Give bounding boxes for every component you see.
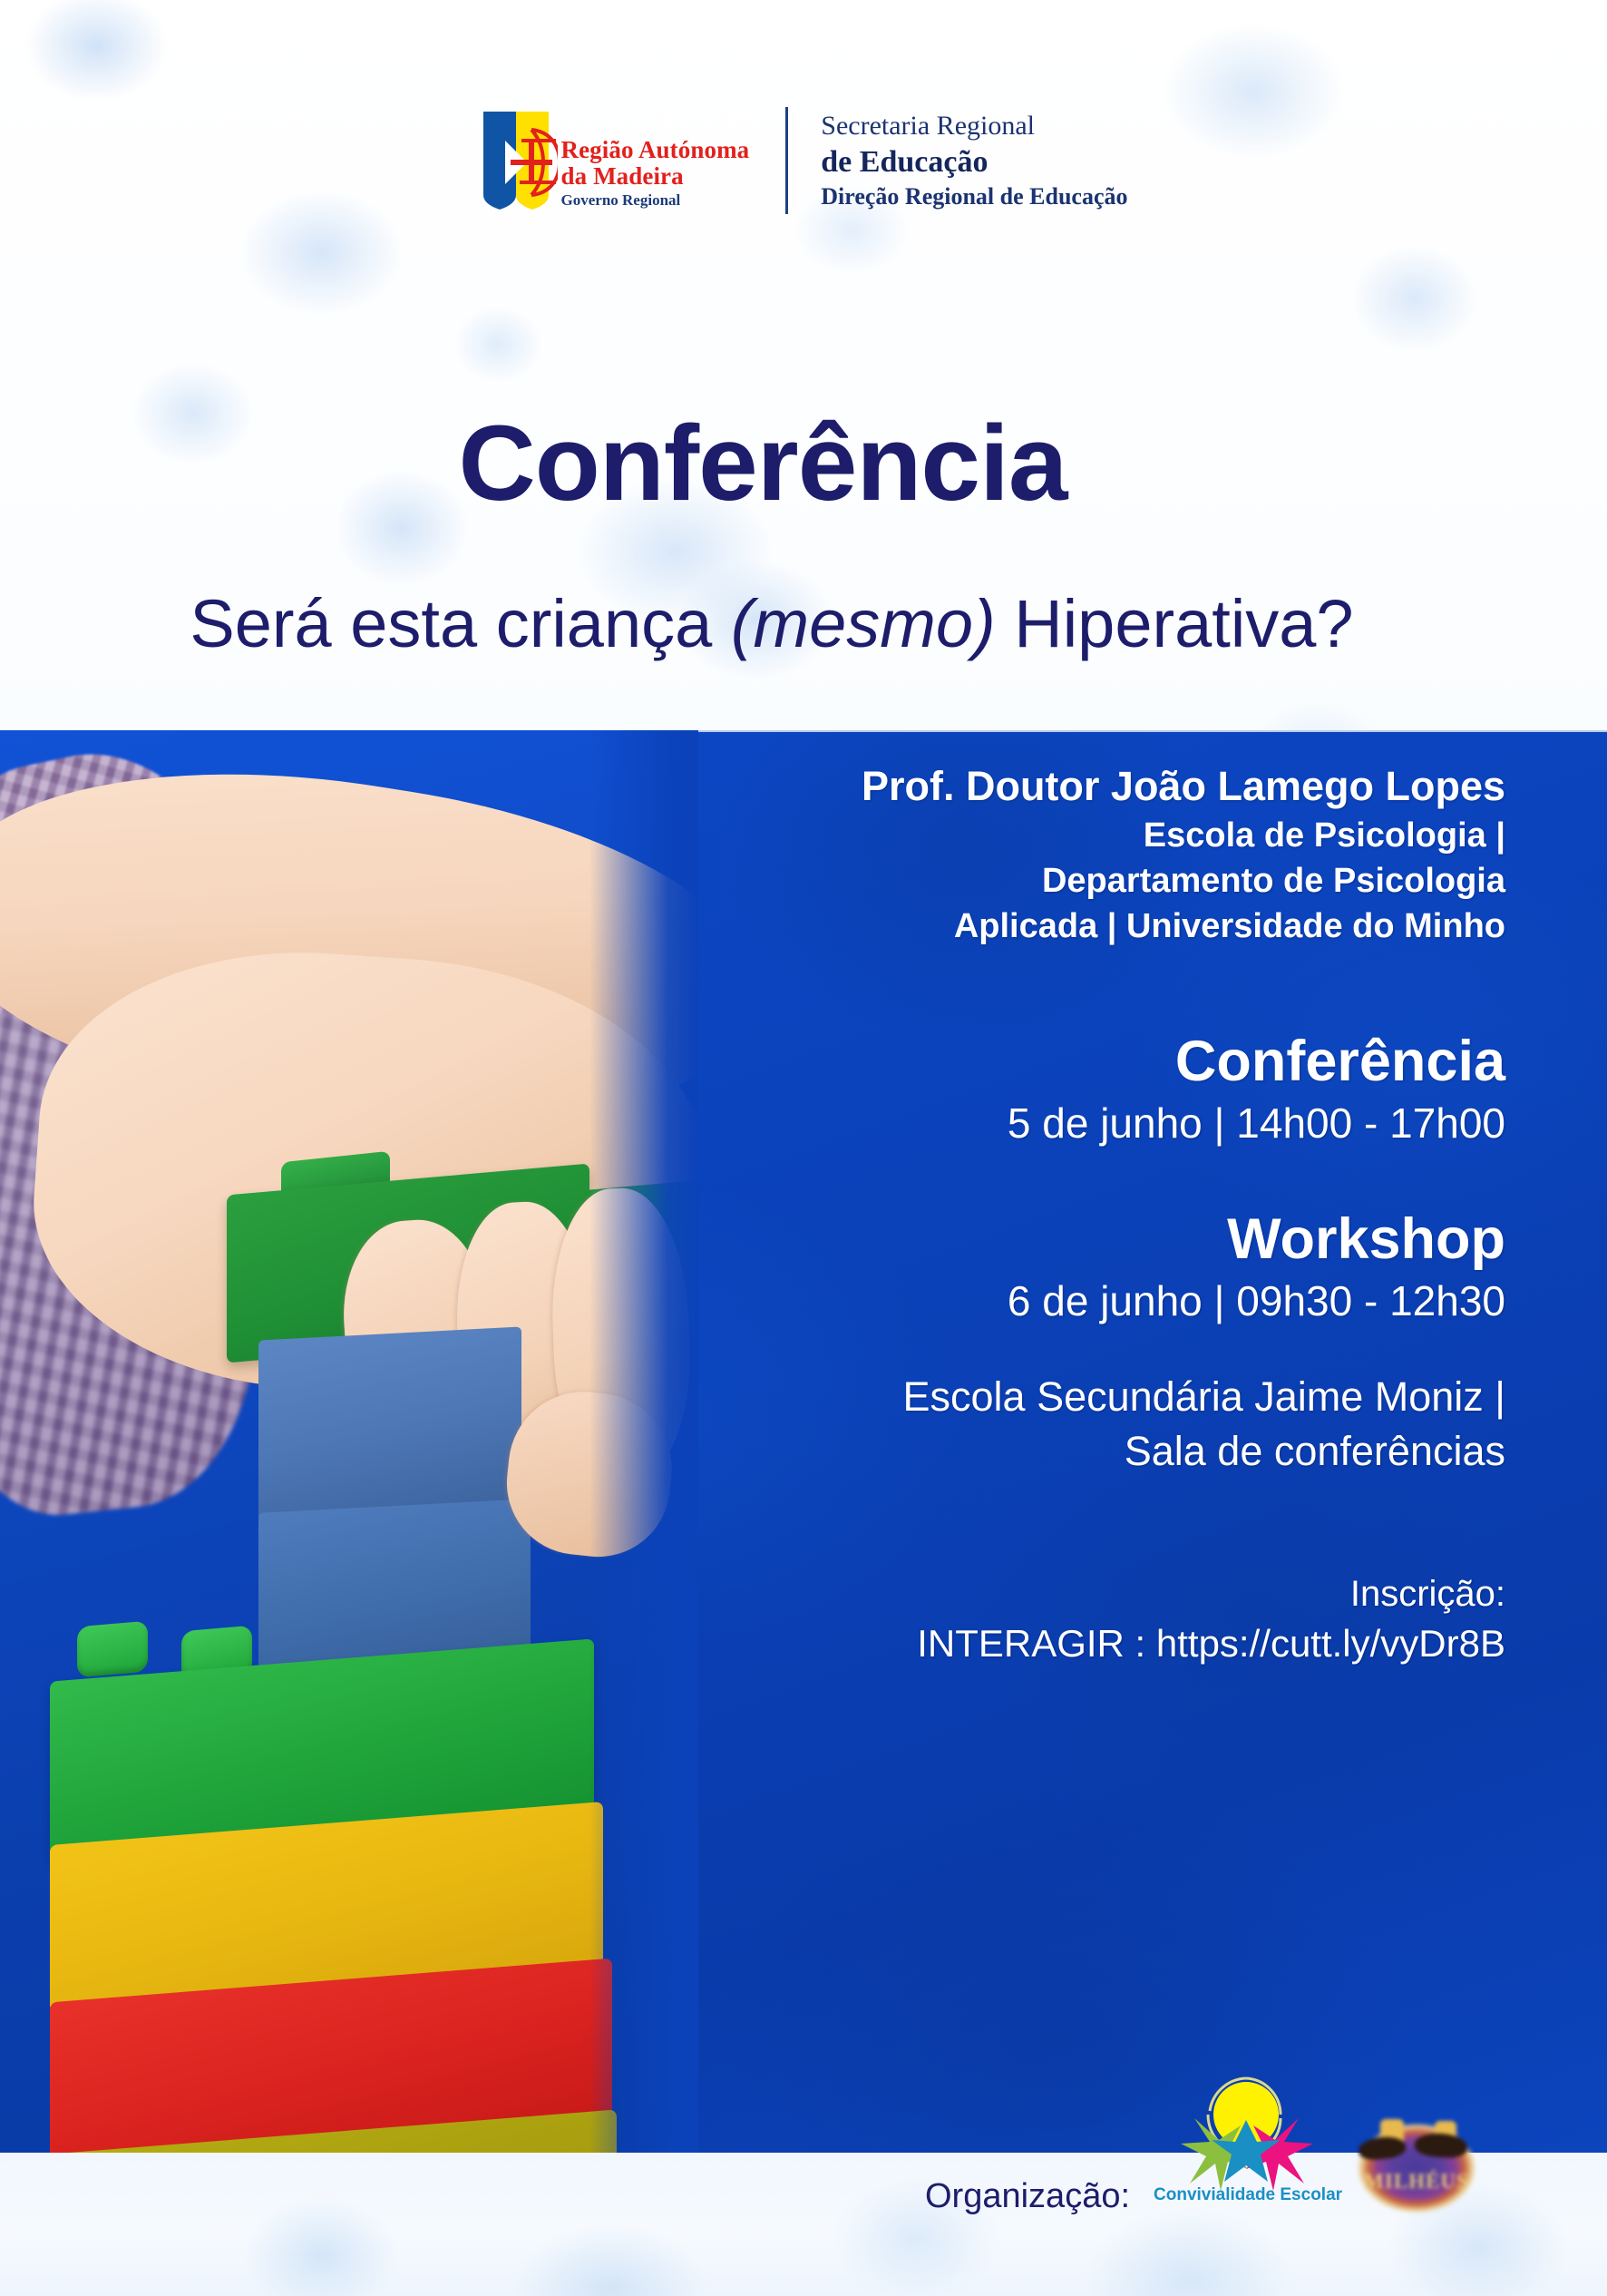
speaker-affiliation-line2: Departamento de Psicologia <box>789 858 1505 904</box>
region-line1: Região Autónoma <box>561 137 750 163</box>
milheus-shape-1 <box>1358 2135 1407 2161</box>
convivialidade-escolar-logo: Convivialidade Escolar <box>1154 2075 1339 2211</box>
photo-right-fade <box>589 730 698 2153</box>
photo-stud-a <box>77 1621 148 1678</box>
event-0-title: Conferência <box>789 1027 1505 1096</box>
secretariat-line2: de Educação <box>821 143 1127 181</box>
madeira-coat-of-arms-icon <box>480 110 558 211</box>
header-logos: Região Autónoma da Madeira Governo Regio… <box>0 107 1607 214</box>
milheus-shape-2 <box>1414 2132 1468 2159</box>
page-subtitle: Será esta criança (mesmo) Hiperativa? <box>0 588 1607 660</box>
organization-row: Organização: Convivialidade Escolar <box>925 2175 1339 2217</box>
speaker-name: Prof. Doutor João Lamego Lopes <box>789 760 1505 813</box>
spacer <box>789 949 1505 1027</box>
subtitle-part1: Será esta criança <box>190 586 730 661</box>
event-details-column: Prof. Doutor João Lamego Lopes Escola de… <box>789 760 1505 1669</box>
speaker-affiliation-line3: Aplicada | Universidade do Minho <box>789 904 1505 949</box>
poster-root: Região Autónoma da Madeira Governo Regio… <box>0 0 1607 2296</box>
venue-line2: Sala de conferências <box>789 1424 1505 1479</box>
spacer <box>789 1150 1505 1205</box>
page-title: Conferência <box>0 410 1607 517</box>
region-line2: da Madeira <box>561 163 750 190</box>
secretaria-regional-educacao-logo: Secretaria Regional de Educação Direção … <box>821 109 1127 212</box>
photo-block-blue-upper <box>258 1326 521 1521</box>
event-0-when: 5 de junho | 14h00 - 17h00 <box>789 1096 1505 1150</box>
madeira-logo-text: Região Autónoma da Madeira Governo Regio… <box>561 110 750 212</box>
venue-line1: Escola Secundária Jaime Moniz | <box>789 1370 1505 1424</box>
event-1-title: Workshop <box>789 1205 1505 1274</box>
region-line3: Governo Regional <box>561 190 750 211</box>
spacer <box>789 1479 1505 1569</box>
logo-divider <box>785 107 788 214</box>
secretariat-line1: Secretaria Regional <box>821 109 1127 143</box>
registration-label: Inscrição: <box>789 1569 1505 1618</box>
subtitle-part2: Hiperativa? <box>996 586 1354 661</box>
child-building-blocks-photo <box>0 730 698 2153</box>
milheus-logo: MILHÉUS <box>1344 2114 1489 2223</box>
registration-link[interactable]: INTERAGIR : https://cutt.ly/vyDr8B <box>789 1618 1505 1669</box>
subtitle-italic: (mesmo) <box>731 586 996 661</box>
secretariat-line3: Direção Regional de Educação <box>821 181 1127 212</box>
convivialidade-escolar-caption: Convivialidade Escolar <box>1154 2185 1339 2205</box>
event-1-when: 6 de junho | 09h30 - 12h30 <box>789 1274 1505 1328</box>
spacer <box>789 1328 1505 1370</box>
logo-group: Região Autónoma da Madeira Governo Regio… <box>480 107 1128 214</box>
regiao-autonoma-madeira-logo: Região Autónoma da Madeira Governo Regio… <box>480 110 750 212</box>
speaker-affiliation-line1: Escola de Psicologia | <box>789 813 1505 858</box>
milheus-logo-text: MILHÉUS <box>1344 2170 1489 2193</box>
organization-label: Organização: <box>925 2175 1130 2217</box>
